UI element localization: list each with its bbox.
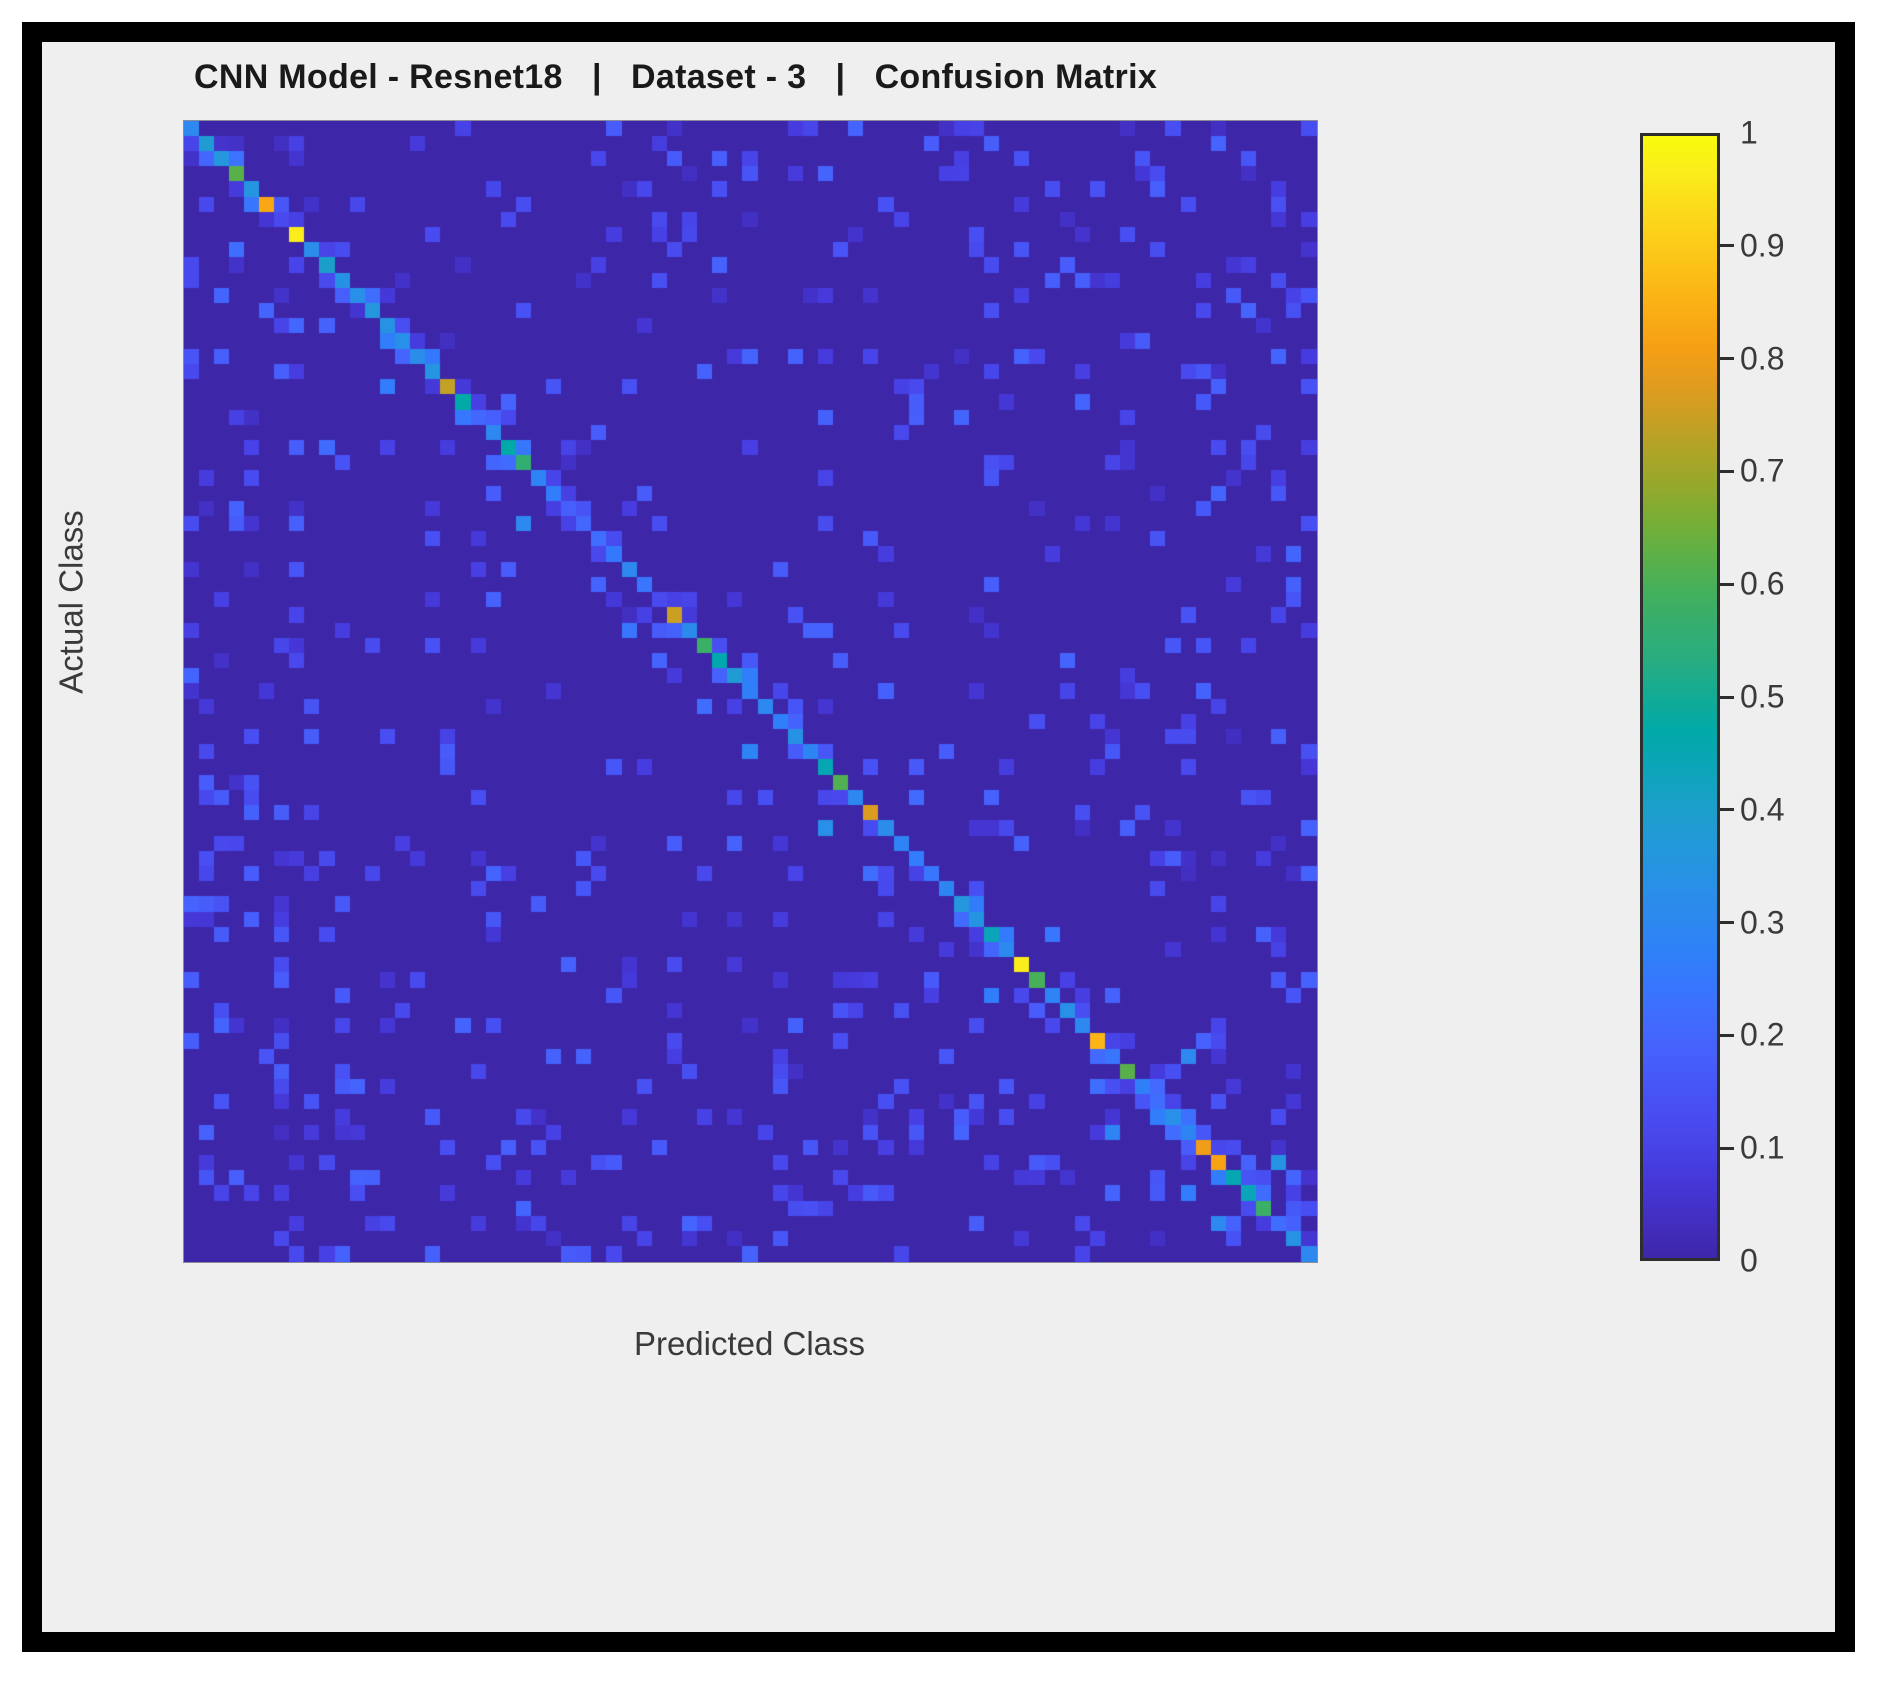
colorbar-tick	[1720, 1147, 1734, 1150]
colorbar-tick-label: 0.5	[1740, 679, 1784, 716]
colorbar-tick-label: 0.8	[1740, 340, 1784, 377]
colorbar-tick-label: 0.3	[1740, 904, 1784, 941]
colorbar-tick-label: 1	[1740, 115, 1758, 152]
page-title: CNN Model - Resnet18 | Dataset - 3 | Con…	[42, 58, 1835, 97]
x-axis-label: Predicted Class	[183, 1325, 1316, 1363]
colorbar-tick-labels: 10.90.80.70.60.50.40.30.20.10	[1740, 133, 1860, 1261]
figure-frame: CNN Model - Resnet18 | Dataset - 3 | Con…	[22, 22, 1855, 1652]
colorbar-tick-label: 0	[1740, 1243, 1758, 1280]
colorbar-tick	[1720, 1034, 1734, 1037]
colorbar-ticks	[1720, 133, 1734, 1261]
colorbar-tick	[1720, 808, 1734, 811]
colorbar-tick-label: 0.9	[1740, 227, 1784, 264]
colorbar-tick	[1720, 357, 1734, 360]
colorbar-tick-label: 0.4	[1740, 791, 1784, 828]
confusion-matrix-plot[interactable]	[183, 120, 1318, 1263]
colorbar-tick-label: 0.2	[1740, 1017, 1784, 1054]
colorbar-tick-label: 0.1	[1740, 1130, 1784, 1167]
colorbar-tick	[1720, 583, 1734, 586]
y-axis-label: Actual Class	[53, 510, 91, 693]
colorbar[interactable]: 10.90.80.70.60.50.40.30.20.10	[1640, 120, 1724, 1263]
colorbar-tick	[1720, 470, 1734, 473]
figure-inner: CNN Model - Resnet18 | Dataset - 3 | Con…	[42, 42, 1835, 1632]
colorbar-tick-label: 0.7	[1740, 453, 1784, 490]
colorbar-tick	[1720, 244, 1734, 247]
confusion-matrix-canvas	[184, 121, 1317, 1262]
colorbar-gradient	[1640, 133, 1720, 1261]
colorbar-tick	[1720, 696, 1734, 699]
colorbar-tick-label: 0.6	[1740, 566, 1784, 603]
colorbar-tick	[1720, 921, 1734, 924]
